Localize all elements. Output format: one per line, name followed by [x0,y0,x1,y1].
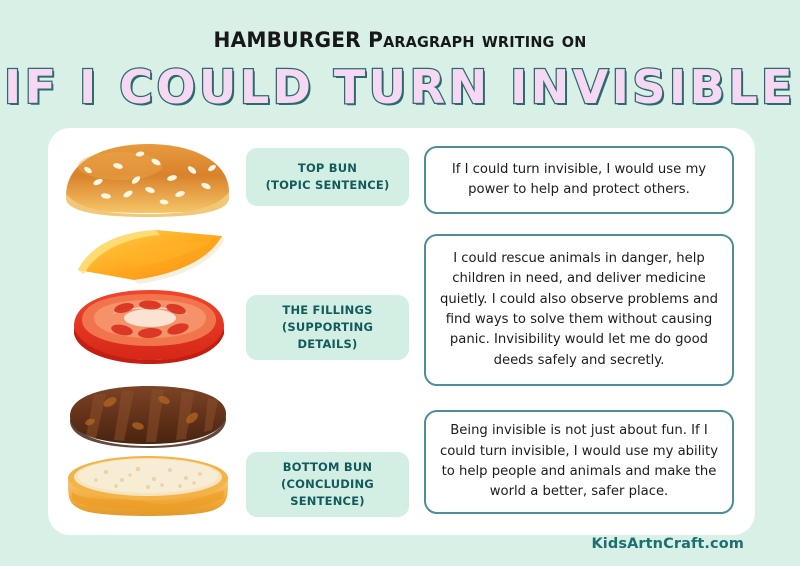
textbox-topic-sentence: If I could turn invisible, I would use m… [424,146,734,214]
header-subtitle: HAMBURGER Paragraph writing on [16,28,784,52]
tomato-slice-icon [60,284,235,366]
textbox-supporting-details: I could rescue animals in danger, help c… [424,234,734,386]
label-bottom-bun: BOTTOM BUN (CONCLUDING SENTENCE) [246,452,409,517]
textbox-concluding-sentence-text: Being invisible is not just about fun. I… [438,421,720,503]
label-bottom-bun-line3: SENTENCE) [290,494,364,508]
cheese-slice-icon [60,224,235,286]
page-title: IF I COULD TURN INVISIBLE [0,60,800,114]
label-top-bun-line1: TOP BUN [298,161,357,175]
textbox-supporting-details-text: I could rescue animals in danger, help c… [438,249,720,372]
label-top-bun: TOP BUN (TOPIC SENTENCE) [246,148,409,206]
header: HAMBURGER Paragraph writing on IF I COUL… [0,0,800,128]
beef-patty-icon [60,382,235,448]
top-bun-icon [60,140,235,218]
label-fillings-line1: THE FILLINGS [282,303,372,317]
burger-illustration [60,134,235,529]
label-fillings-line2: (SUPPORTING [282,320,373,334]
label-fillings-line3: DETAILS) [298,337,358,351]
textbox-topic-sentence-text: If I could turn invisible, I would use m… [438,160,720,201]
site-watermark: KidsArtnCraft.com [591,536,744,552]
textbox-concluding-sentence: Being invisible is not just about fun. I… [424,410,734,514]
label-top-bun-line2: (TOPIC SENTENCE) [266,178,390,192]
bottom-bun-icon [60,452,235,524]
poster-root: HAMBURGER Paragraph writing on IF I COUL… [0,0,800,566]
label-fillings: THE FILLINGS (SUPPORTING DETAILS) [246,295,409,360]
label-bottom-bun-line2: (CONCLUDING [281,477,374,491]
label-bottom-bun-line1: BOTTOM BUN [283,460,372,474]
